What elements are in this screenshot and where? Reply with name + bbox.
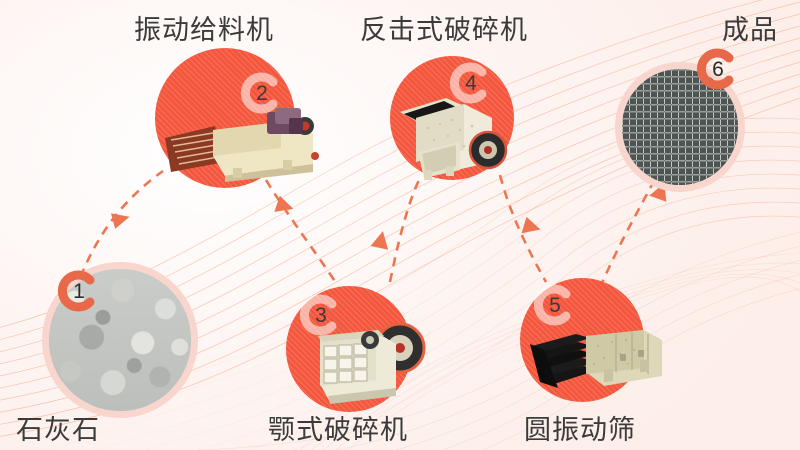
- connector-arrowheads: [111, 180, 673, 250]
- circular-vibrating-screen-machine: [528, 328, 668, 400]
- label-circular-vibrating-screen: 圆振动筛: [524, 408, 636, 447]
- node-jaw-crusher[interactable]: 3: [286, 286, 412, 412]
- label-vibrating-feeder: 振动给料机: [134, 8, 274, 47]
- connector-2-3: [266, 180, 338, 286]
- node-impact-crusher[interactable]: 4: [390, 56, 514, 180]
- connector-3-4: [390, 178, 420, 282]
- impact-crusher-machine: [394, 84, 514, 184]
- node-limestone[interactable]: 1: [42, 262, 198, 418]
- process-flow-diagram: 1 石灰石 2: [0, 0, 800, 450]
- badge-6: 6: [693, 46, 739, 92]
- node-circular-vibrating-screen[interactable]: 5: [520, 278, 644, 402]
- vibrating-feeder-machine: [163, 108, 323, 182]
- connector-4-5: [500, 175, 546, 282]
- node-vibrating-feeder[interactable]: 2: [155, 48, 295, 188]
- badge-1: 1: [54, 268, 100, 314]
- label-finished-product: 成品: [722, 8, 778, 47]
- label-jaw-crusher: 颚式破碎机: [268, 408, 408, 447]
- badge-1-number: 1: [54, 268, 100, 314]
- label-impact-crusher: 反击式破碎机: [360, 8, 528, 47]
- node-finished-product[interactable]: 6: [615, 62, 745, 192]
- badge-6-number: 6: [693, 46, 739, 92]
- badge-5: 5: [530, 282, 576, 328]
- label-limestone: 石灰石: [16, 408, 100, 447]
- jaw-crusher-machine: [300, 314, 430, 406]
- badge-5-number: 5: [530, 282, 576, 328]
